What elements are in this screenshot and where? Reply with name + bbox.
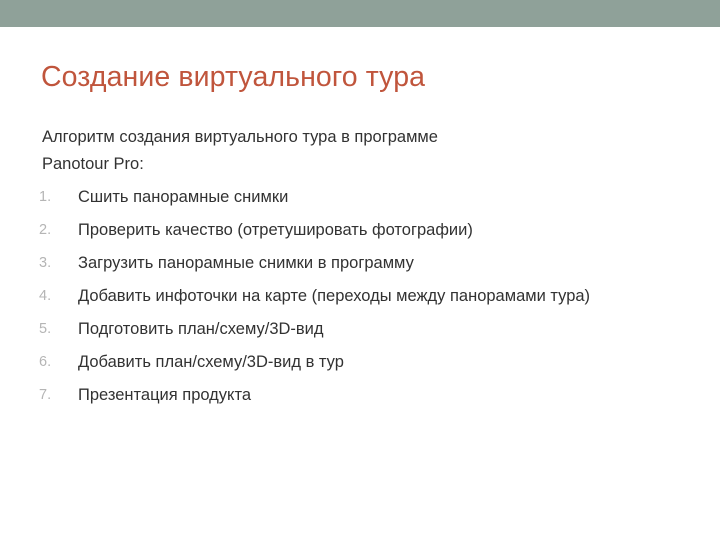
list-item-number: 4. [38,283,78,310]
list-item-label: Добавить план/схему/3D-вид в тур [78,349,683,376]
list-item-number: 3. [38,250,78,277]
list-item: 2. Проверить качество (отретушировать фо… [0,217,720,244]
intro-paragraph: Алгоритм создания виртуального тура в пр… [0,124,720,178]
list-item-number: 7. [38,382,78,409]
list-item-number: 6. [38,349,78,376]
list-item: 3. Загрузить панорамные снимки в програм… [0,250,720,277]
decorative-top-bar [0,0,720,27]
list-item-label: Добавить инфоточки на карте (переходы ме… [78,283,683,310]
list-item: 6. Добавить план/схему/3D-вид в тур [0,349,720,376]
list-item-label: Загрузить панорамные снимки в программу [78,250,683,277]
steps-list: 1. Сшить панорамные снимки 2. Проверить … [0,184,720,409]
list-item-label: Сшить панорамные снимки [78,184,683,211]
page-title: Создание виртуального тура [41,58,691,96]
list-item-number: 1. [38,184,78,211]
list-item-label: Презентация продукта [78,382,683,409]
list-item: 1. Сшить панорамные снимки [0,184,720,211]
list-item-number: 5. [38,316,78,343]
list-item: 7. Презентация продукта [0,382,720,409]
presentation-slide: Создание виртуального тура Алгоритм созд… [0,0,720,540]
intro-line-1: Алгоритм создания виртуального тура в пр… [42,128,438,146]
list-item: 5. Подготовить план/схему/3D-вид [0,316,720,343]
list-item: 4. Добавить инфоточки на карте (переходы… [0,283,720,310]
list-item-number: 2. [38,217,78,244]
slide-body: Алгоритм создания виртуального тура в пр… [0,124,720,415]
intro-line-2: Panotour Pro: [42,151,683,178]
list-item-label: Подготовить план/схему/3D-вид [78,316,683,343]
list-item-label: Проверить качество (отретушировать фотог… [78,217,683,244]
